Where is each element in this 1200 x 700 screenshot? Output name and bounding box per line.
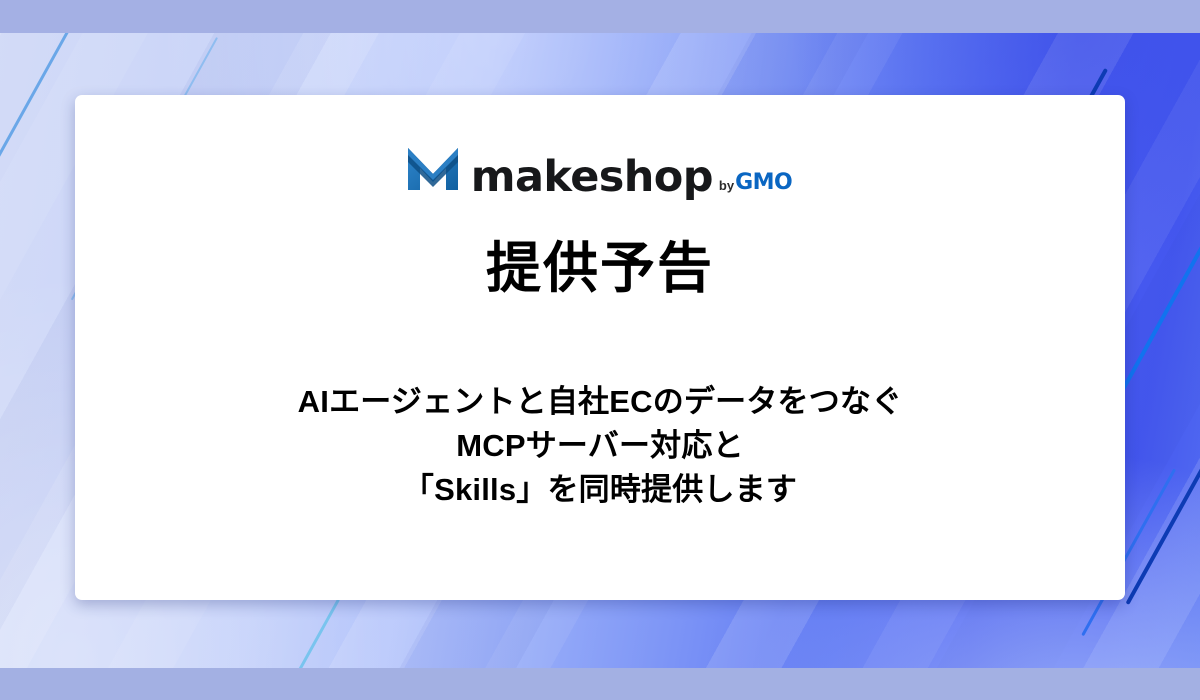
page-title: 提供予告 xyxy=(486,241,714,296)
content-card: makeshop by GMO 提供予告 AIエージェントと自社ECのデータをつ… xyxy=(75,95,1125,600)
body-line-2: MCPサーバー対応と xyxy=(298,424,903,468)
announcement-body: AIエージェントと自社ECのデータをつなぐ MCPサーバー対応と 「Skills… xyxy=(298,380,903,512)
makeshop-m-mark-icon xyxy=(408,146,458,197)
gmo-brand-label: GMO xyxy=(735,172,792,194)
announcement-banner: makeshop by GMO 提供予告 AIエージェントと自社ECのデータをつ… xyxy=(0,0,1200,700)
body-line-3: 「Skills」を同時提供します xyxy=(298,468,903,512)
makeshop-logo-lockup: makeshop by GMO xyxy=(408,147,792,197)
makeshop-wordmark: makeshop xyxy=(471,156,713,199)
body-line-1: AIエージェントと自社ECのデータをつなぐ xyxy=(298,380,903,424)
bottom-color-band xyxy=(0,668,1200,700)
logo-by-label: by xyxy=(719,179,734,192)
top-color-band xyxy=(0,0,1200,33)
